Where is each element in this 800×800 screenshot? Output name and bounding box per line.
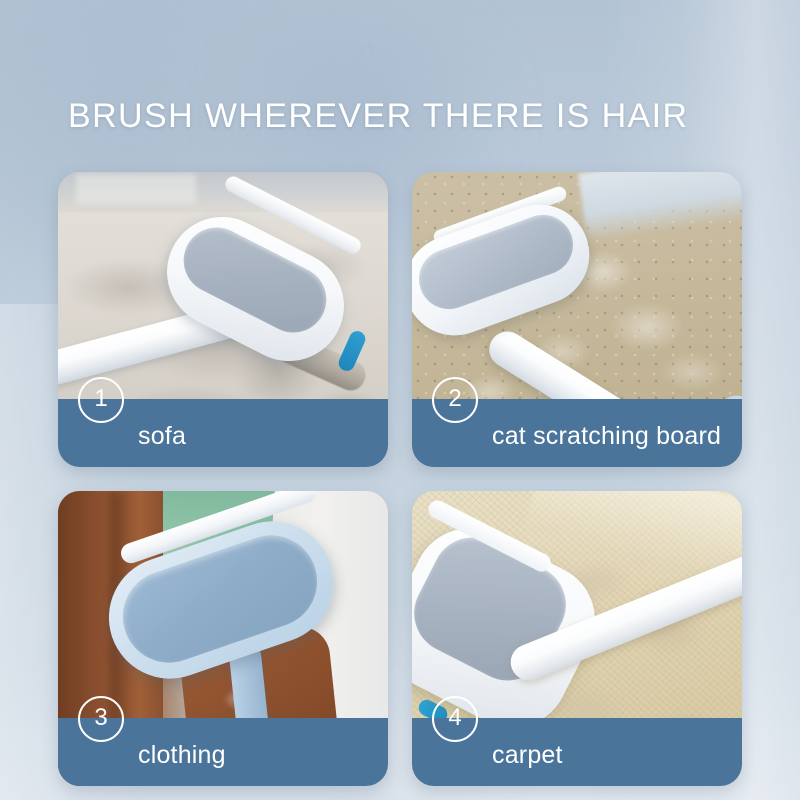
step-badge-number-3: 3 xyxy=(94,706,107,730)
step-badge-2: 2 xyxy=(432,377,478,423)
step-badge-4: 4 xyxy=(432,696,478,742)
product-poster: BRUSH WHEREVER THERE IS HAIR sofa 1 xyxy=(0,0,800,800)
caption-label-cat-scratching-board: cat scratching board xyxy=(492,422,721,451)
caption-label-clothing: clothing xyxy=(138,741,226,770)
page-title: BRUSH WHEREVER THERE IS HAIR xyxy=(68,96,688,136)
caption-label-carpet: carpet xyxy=(492,741,563,770)
caption-label-sofa: sofa xyxy=(138,422,186,451)
sofa-wall-panel xyxy=(76,174,196,204)
usage-scenario-grid: sofa 1 cat scratching board xyxy=(58,172,742,786)
step-badge-number-2: 2 xyxy=(448,387,461,411)
scenario-card-sofa[interactable]: sofa 1 xyxy=(58,172,388,467)
step-badge-1: 1 xyxy=(78,377,124,423)
scenario-card-cat-scratching-board[interactable]: cat scratching board 2 xyxy=(412,172,742,467)
scenario-card-clothing[interactable]: clothing 3 xyxy=(58,491,388,786)
step-badge-3: 3 xyxy=(78,696,124,742)
step-badge-number-1: 1 xyxy=(94,387,107,411)
scenario-card-carpet[interactable]: carpet 4 xyxy=(412,491,742,786)
step-badge-number-4: 4 xyxy=(448,706,461,730)
